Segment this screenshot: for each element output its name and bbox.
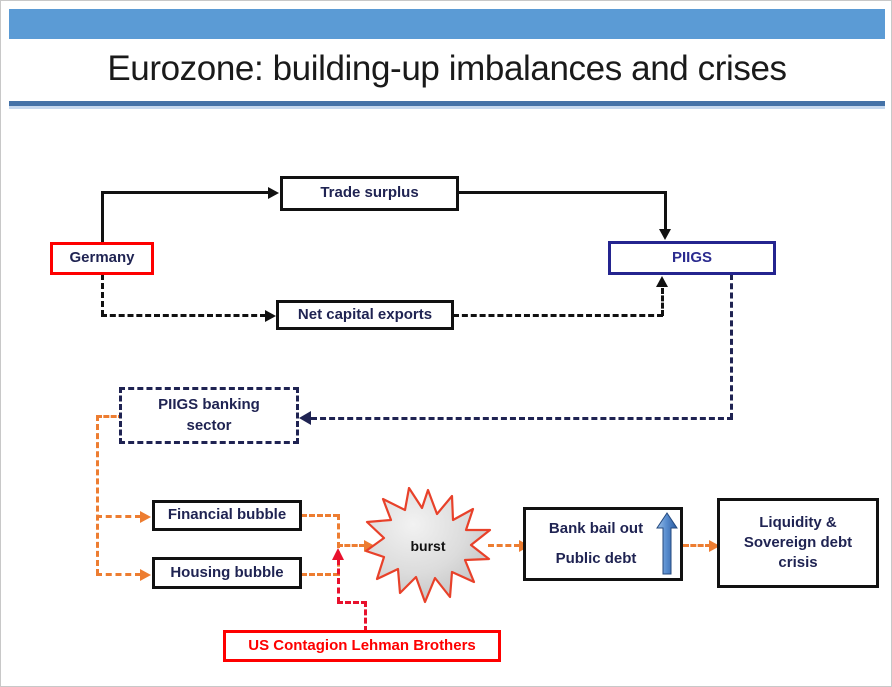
node-trade-surplus[interactable]: Trade surplus — [280, 176, 459, 211]
arrowhead-into-banking-sector — [299, 411, 311, 425]
node-burst[interactable]: burst — [364, 487, 492, 605]
arrowhead-into-netcapital — [265, 310, 276, 322]
node-liquidity-crisis[interactable]: Liquidity & Sovereign debt crisis — [717, 498, 879, 588]
connector-housing-bubble-to-burst — [301, 573, 339, 576]
connector-banking-to-bubbles-vertical — [96, 415, 99, 575]
arrowhead-into-trade-surplus — [268, 187, 279, 199]
connector-financial-bubble-to-burst — [301, 514, 339, 517]
title-divider-accent — [9, 106, 885, 109]
connector-netcapital-to-piigs-horizontal — [453, 314, 663, 317]
node-trade-surplus-label: Trade surplus — [320, 183, 418, 203]
connector-burst-to-bailout — [488, 544, 520, 547]
connector-piigs-to-banking-vertical — [730, 274, 733, 419]
node-liquidity-crisis-label: Liquidity & Sovereign debt crisis — [720, 513, 876, 574]
connector-germany-to-trade-horizontal — [101, 191, 269, 194]
arrowhead-into-piigs-from-netcapital — [656, 276, 668, 287]
connector-trade-to-piigs-vertical — [664, 191, 667, 229]
connector-contagion-to-burst-vertical-left — [337, 559, 340, 603]
node-bank-bailout-label-line1: Bank bail out — [549, 519, 643, 539]
arrowhead-into-burst-from-contagion — [332, 548, 344, 560]
node-bank-bailout-label-line2: Public debt — [556, 549, 637, 569]
node-us-contagion-label: US Contagion Lehman Brothers — [248, 636, 476, 656]
header-band — [9, 9, 885, 39]
node-housing-bubble[interactable]: Housing bubble — [152, 557, 302, 589]
connector-contagion-to-burst-vertical-right — [364, 601, 367, 632]
node-piigs-label: PIIGS — [672, 248, 712, 268]
connector-netcapital-to-piigs-vertical — [661, 288, 664, 316]
connector-germany-to-netcapital-horizontal — [101, 314, 266, 317]
node-germany-label: Germany — [69, 248, 134, 268]
node-housing-bubble-label: Housing bubble — [170, 563, 283, 583]
node-net-capital-exports[interactable]: Net capital exports — [276, 300, 454, 330]
node-net-capital-exports-label: Net capital exports — [298, 305, 432, 325]
arrowhead-into-financial-bubble — [140, 511, 151, 523]
arrowhead-into-piigs — [659, 229, 671, 240]
node-financial-bubble[interactable]: Financial bubble — [152, 500, 302, 531]
node-us-contagion[interactable]: US Contagion Lehman Brothers — [223, 630, 501, 662]
node-piigs[interactable]: PIIGS — [608, 241, 776, 275]
connector-contagion-to-burst-horizontal — [337, 601, 367, 604]
node-financial-bubble-label: Financial bubble — [168, 505, 286, 525]
connector-banking-to-financial-bubble — [96, 515, 141, 518]
debt-increase-arrow-icon — [656, 512, 678, 576]
connector-germany-to-trade-vertical — [101, 191, 104, 243]
node-piigs-banking-sector[interactable]: PIIGS banking sector — [119, 387, 299, 444]
slide-canvas: Eurozone: building-up imbalances and cri… — [0, 0, 892, 687]
connector-trade-to-piigs-horizontal — [459, 191, 666, 194]
connector-merge-to-burst — [337, 544, 365, 547]
connector-piigs-to-banking-horizontal — [311, 417, 733, 420]
connector-banking-to-housing-bubble — [96, 573, 141, 576]
arrowhead-into-housing-bubble — [140, 569, 151, 581]
page-title: Eurozone: building-up imbalances and cri… — [1, 43, 892, 95]
connector-germany-to-netcapital-vertical — [101, 274, 104, 316]
node-germany[interactable]: Germany — [50, 242, 154, 275]
node-piigs-banking-sector-label: PIIGS banking sector — [122, 395, 296, 436]
connector-bailout-to-crisis — [683, 544, 711, 547]
burst-star-icon — [364, 487, 492, 605]
